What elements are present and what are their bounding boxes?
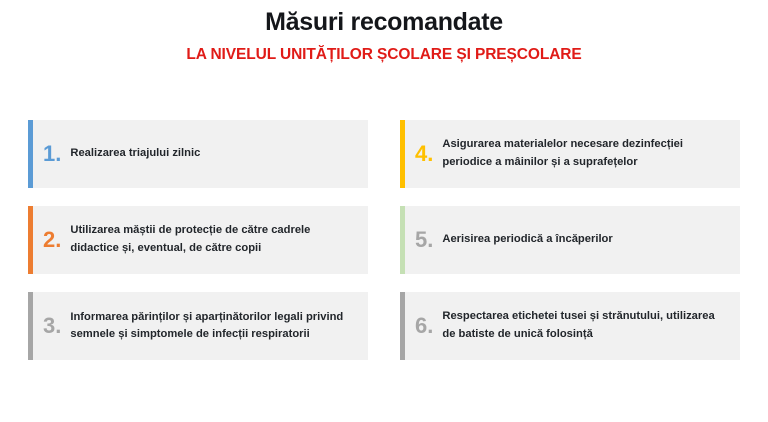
measure-text: Aerisirea periodică a încăperilor	[442, 231, 740, 249]
measure-card: 6. Respectarea etichetei tusei și strănu…	[400, 292, 740, 360]
measure-card: 4. Asigurarea materialelor necesare dezi…	[400, 120, 740, 188]
measure-number: 5.	[400, 229, 442, 251]
measure-card: 2. Utilizarea măștii de protecție de căt…	[28, 206, 368, 274]
measure-number: 2.	[28, 229, 70, 251]
measure-number: 6.	[400, 315, 442, 337]
accent-bar	[28, 206, 33, 274]
measures-grid: 1. Realizarea triajului zilnic 4. Asigur…	[28, 120, 740, 360]
accent-bar	[400, 206, 405, 274]
measure-text: Asigurarea materialelor necesare dezinfe…	[442, 136, 740, 171]
measure-text: Respectarea etichetei tusei și strănutul…	[442, 308, 740, 343]
page-subtitle: LA NIVELUL UNITĂȚILOR ȘCOLARE ȘI PREȘCOL…	[0, 46, 768, 63]
accent-bar	[28, 120, 33, 188]
accent-bar	[28, 292, 33, 360]
measure-card: 1. Realizarea triajului zilnic	[28, 120, 368, 188]
poster-header: Măsuri recomandate LA NIVELUL UNITĂȚILOR…	[0, 0, 768, 63]
measure-number: 1.	[28, 143, 70, 165]
infographic-poster: Măsuri recomandate LA NIVELUL UNITĂȚILOR…	[0, 0, 768, 422]
measure-card: 3. Informarea părinților și aparținători…	[28, 292, 368, 360]
measure-number: 3.	[28, 315, 70, 337]
accent-bar	[400, 120, 405, 188]
page-title: Măsuri recomandate	[0, 8, 768, 37]
measure-text: Realizarea triajului zilnic	[70, 145, 368, 163]
measure-card: 5. Aerisirea periodică a încăperilor	[400, 206, 740, 274]
measure-text: Informarea părinților și aparținătorilor…	[70, 309, 368, 344]
accent-bar	[400, 292, 405, 360]
measure-text: Utilizarea măștii de protecție de către …	[70, 222, 368, 257]
measure-number: 4.	[400, 143, 442, 165]
